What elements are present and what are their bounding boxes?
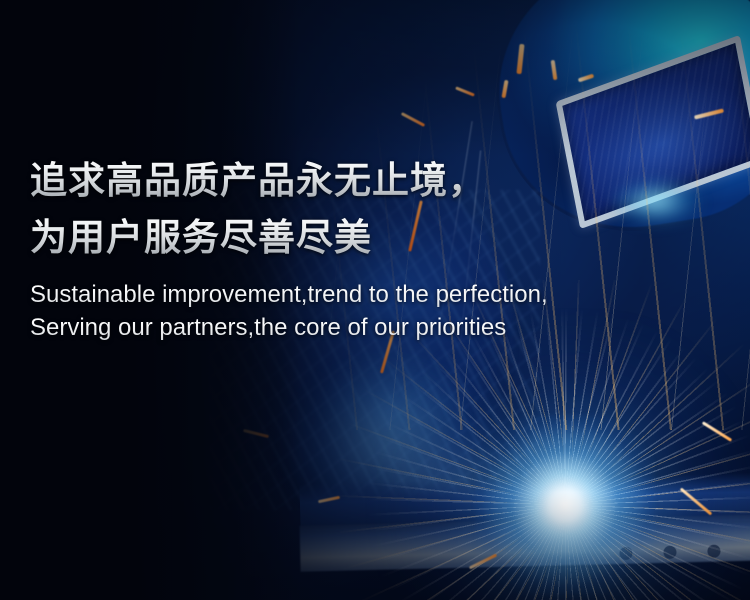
banner-copy: 追求高品质产品永无止境， 为用户服务尽善尽美 Sustainable impro…	[30, 152, 710, 344]
headline-line-1: 追求高品质产品永无止境，	[30, 152, 710, 209]
headline-line-2: 为用户服务尽善尽美	[30, 209, 710, 266]
subheadline-line-1: Sustainable improvement,trend to the per…	[30, 278, 710, 311]
subheadline-group: Sustainable improvement,trend to the per…	[30, 278, 710, 344]
hero-banner: 追求高品质产品永无止境， 为用户服务尽善尽美 Sustainable impro…	[0, 0, 750, 600]
subheadline-line-2: Serving our partners,the core of our pri…	[30, 311, 710, 344]
